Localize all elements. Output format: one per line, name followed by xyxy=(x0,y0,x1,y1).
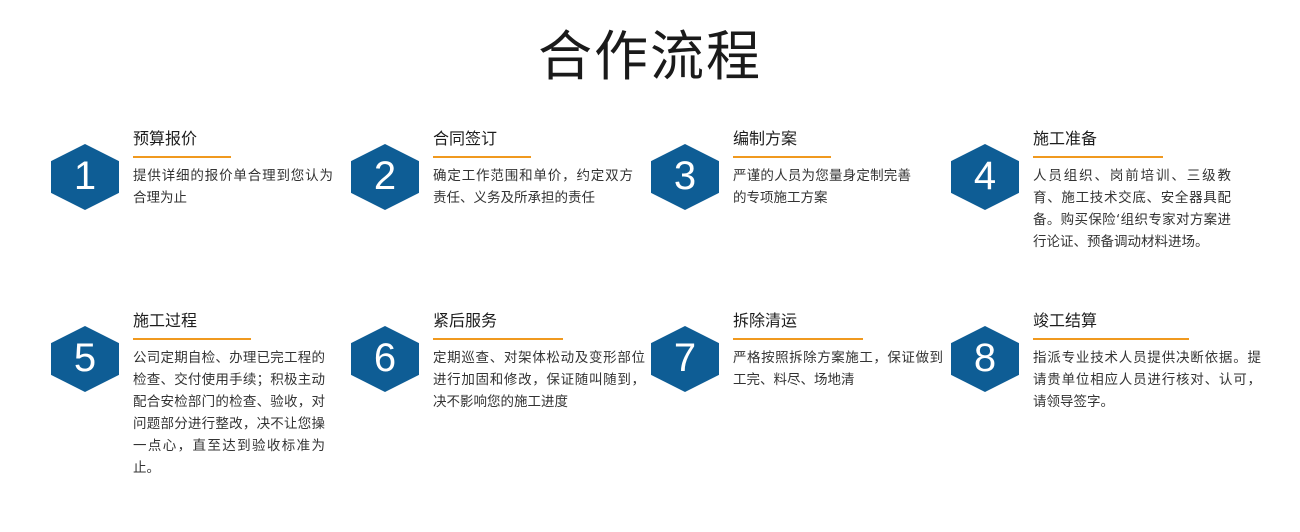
step-badge-3: 3 xyxy=(651,144,719,210)
step-title: 竣工结算 xyxy=(1033,310,1261,338)
step-divider xyxy=(1033,338,1189,340)
step-body-1: 预算报价 提供详细的报价单合理到您认为合理为止 xyxy=(133,128,333,209)
step-description: 提供详细的报价单合理到您认为合理为止 xyxy=(133,165,333,209)
step-divider xyxy=(433,156,531,158)
step-title: 施工过程 xyxy=(133,310,325,338)
step-body-4: 施工准备 人员组织、岗前培训、三级教育、施工技术交底、安全器具配备。购买保险‘组… xyxy=(1033,128,1231,253)
hexagon-icon: 8 xyxy=(951,326,1019,392)
step-divider xyxy=(733,338,863,340)
step-title: 紧后服务 xyxy=(433,310,645,338)
step-number: 2 xyxy=(374,156,396,196)
hexagon-icon: 5 xyxy=(51,326,119,392)
step-description: 确定工作范围和单价，约定双方责任、义务及所承担的责任 xyxy=(433,165,633,209)
step-title: 编制方案 xyxy=(733,128,911,156)
step-badge-1: 1 xyxy=(51,144,119,210)
step-badge-4: 4 xyxy=(951,144,1019,210)
step-number: 5 xyxy=(74,338,96,378)
hexagon-icon: 2 xyxy=(351,144,419,210)
step-divider xyxy=(133,338,251,340)
step-number: 7 xyxy=(674,338,696,378)
step-description: 公司定期自检、办理已完工程的检查、交付使用手续；积极主动配合安检部门的检查、验收… xyxy=(133,347,325,479)
hexagon-icon: 4 xyxy=(951,144,1019,210)
step-body-6: 紧后服务 定期巡查、对架体松动及变形部位进行加固和修改，保证随叫随到，决不影响您… xyxy=(433,310,645,413)
step-body-3: 编制方案 严谨的人员为您量身定制完善的专项施工方案 xyxy=(733,128,911,209)
hexagon-icon: 7 xyxy=(651,326,719,392)
step-divider xyxy=(133,156,231,158)
step-badge-7: 7 xyxy=(651,326,719,392)
step-description: 人员组织、岗前培训、三级教育、施工技术交底、安全器具配备。购买保险‘组织专家对方… xyxy=(1033,165,1231,253)
hexagon-icon: 1 xyxy=(51,144,119,210)
step-divider xyxy=(1033,156,1163,158)
hexagon-icon: 6 xyxy=(351,326,419,392)
steps-row-top: 1 预算报价 提供详细的报价单合理到您认为合理为止 2 合同签订 xyxy=(0,128,1300,310)
step-divider xyxy=(733,156,831,158)
step-number: 8 xyxy=(974,338,996,378)
step-description: 严格按照拆除方案施工，保证做到工完、料尽、场地清 xyxy=(733,347,943,391)
step-description: 定期巡查、对架体松动及变形部位进行加固和修改，保证随叫随到，决不影响您的施工进度 xyxy=(433,347,645,413)
step-title: 施工准备 xyxy=(1033,128,1231,156)
step-number: 1 xyxy=(74,156,96,196)
step-badge-5: 5 xyxy=(51,326,119,392)
step-body-2: 合同签订 确定工作范围和单价，约定双方责任、义务及所承担的责任 xyxy=(433,128,633,209)
hexagon-icon: 3 xyxy=(651,144,719,210)
step-number: 3 xyxy=(674,156,696,196)
step-body-5: 施工过程 公司定期自检、办理已完工程的检查、交付使用手续；积极主动配合安检部门的… xyxy=(133,310,325,479)
step-description: 指派专业技术人员提供决断依据。提请贵单位相应人员进行核对、认可，请领导签字。 xyxy=(1033,347,1261,413)
steps-grid: 1 预算报价 提供详细的报价单合理到您认为合理为止 2 合同签订 xyxy=(0,128,1300,510)
step-body-8: 竣工结算 指派专业技术人员提供决断依据。提请贵单位相应人员进行核对、认可，请领导… xyxy=(1033,310,1261,413)
steps-row-bottom: 5 施工过程 公司定期自检、办理已完工程的检查、交付使用手续；积极主动配合安检部… xyxy=(0,310,1300,510)
step-number: 4 xyxy=(974,156,996,196)
step-body-7: 拆除清运 严格按照拆除方案施工，保证做到工完、料尽、场地清 xyxy=(733,310,943,391)
step-badge-2: 2 xyxy=(351,144,419,210)
step-badge-8: 8 xyxy=(951,326,1019,392)
page-title: 合作流程 xyxy=(0,22,1300,92)
step-divider xyxy=(433,338,563,340)
step-title: 合同签订 xyxy=(433,128,633,156)
step-description: 严谨的人员为您量身定制完善的专项施工方案 xyxy=(733,165,911,209)
step-title: 预算报价 xyxy=(133,128,333,156)
step-title: 拆除清运 xyxy=(733,310,943,338)
process-infographic: 合作流程 1 预算报价 提供详细的报价单合理到您认为合理为止 xyxy=(0,0,1300,532)
step-badge-6: 6 xyxy=(351,326,419,392)
step-number: 6 xyxy=(374,338,396,378)
